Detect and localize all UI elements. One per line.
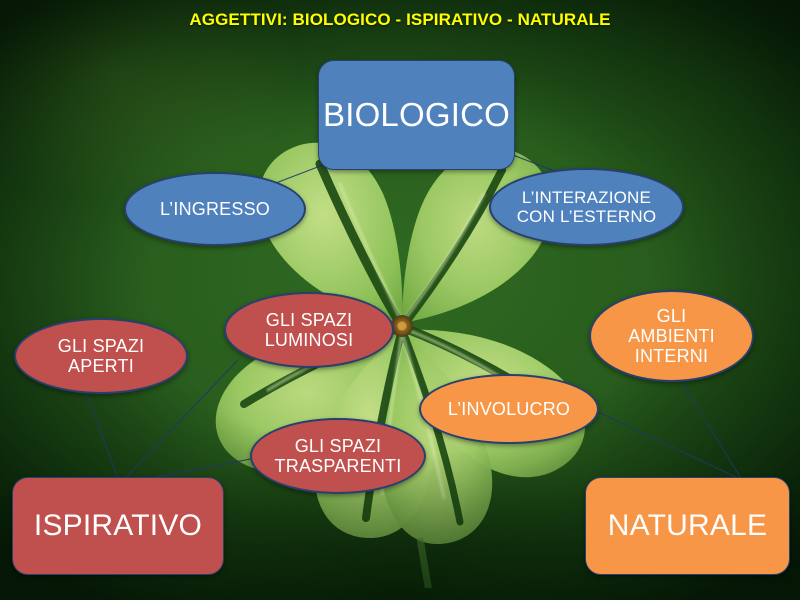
node-interazione[interactable]: L’INTERAZIONE CON L’ESTERNO <box>489 168 684 246</box>
node-biologico[interactable]: BIOLOGICO <box>318 60 515 170</box>
slide-canvas: AGGETTIVI: BIOLOGICO - ISPIRATIVO - NATU… <box>0 0 800 600</box>
node-ambienti-interni[interactable]: GLI AMBIENTI INTERNI <box>589 290 754 382</box>
node-ingresso[interactable]: L’INGRESSO <box>124 172 306 246</box>
node-spazi-trasparenti[interactable]: GLI SPAZI TRASPARENTI <box>250 418 426 494</box>
page-title: AGGETTIVI: BIOLOGICO - ISPIRATIVO - NATU… <box>0 10 800 30</box>
node-naturale[interactable]: NATURALE <box>585 477 790 575</box>
node-spazi-aperti[interactable]: GLI SPAZI APERTI <box>14 318 188 394</box>
node-involucro[interactable]: L’INVOLUCRO <box>419 374 599 444</box>
node-spazi-luminosi[interactable]: GLI SPAZI LUMINOSI <box>224 292 394 368</box>
node-ispirativo[interactable]: ISPIRATIVO <box>12 477 224 575</box>
